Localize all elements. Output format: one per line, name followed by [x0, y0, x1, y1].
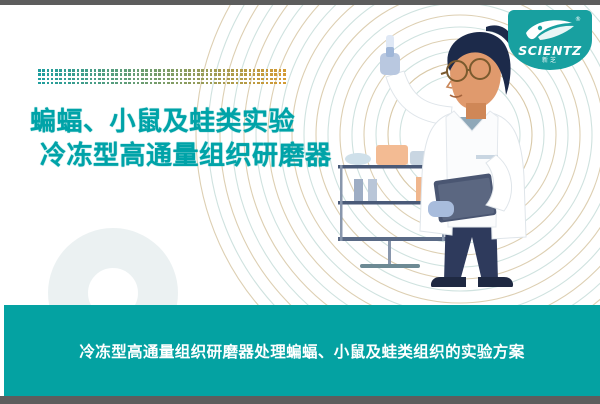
registered-trademark-mark: ®	[575, 16, 581, 23]
bottom-chrome-bar	[0, 396, 600, 404]
scientist-head	[441, 25, 513, 119]
scientz-logo[interactable]: ® SCIENTZ 新芝	[508, 10, 592, 70]
screenshot-root: 蝙蝠、小鼠及蛙类实验 冷冻型高通量组织研磨器	[0, 0, 600, 404]
title-line-1: 蝙蝠、小鼠及蛙类实验	[30, 105, 332, 139]
title-line-2: 冷冻型高通量组织研磨器	[40, 139, 332, 173]
dot-grid-decoration	[38, 69, 287, 86]
raised-arm	[380, 35, 452, 125]
poster-title: 蝙蝠、小鼠及蛙类实验 冷冻型高通量组织研磨器	[30, 105, 332, 173]
banner-caption: 冷冻型高通量组织研磨器处理蝙蝠、小鼠及蛙类组织的实验方案	[79, 340, 524, 362]
top-chrome-bar	[0, 0, 600, 5]
logo-emblem-icon	[522, 17, 578, 43]
bottom-banner: 冷冻型高通量组织研磨器处理蝙蝠、小鼠及蛙类组织的实验方案	[4, 305, 600, 396]
poster-canvas: 蝙蝠、小鼠及蛙类实验 冷冻型高通量组织研磨器	[0, 5, 600, 396]
logo-brand-name-cn: 新芝	[508, 55, 592, 64]
